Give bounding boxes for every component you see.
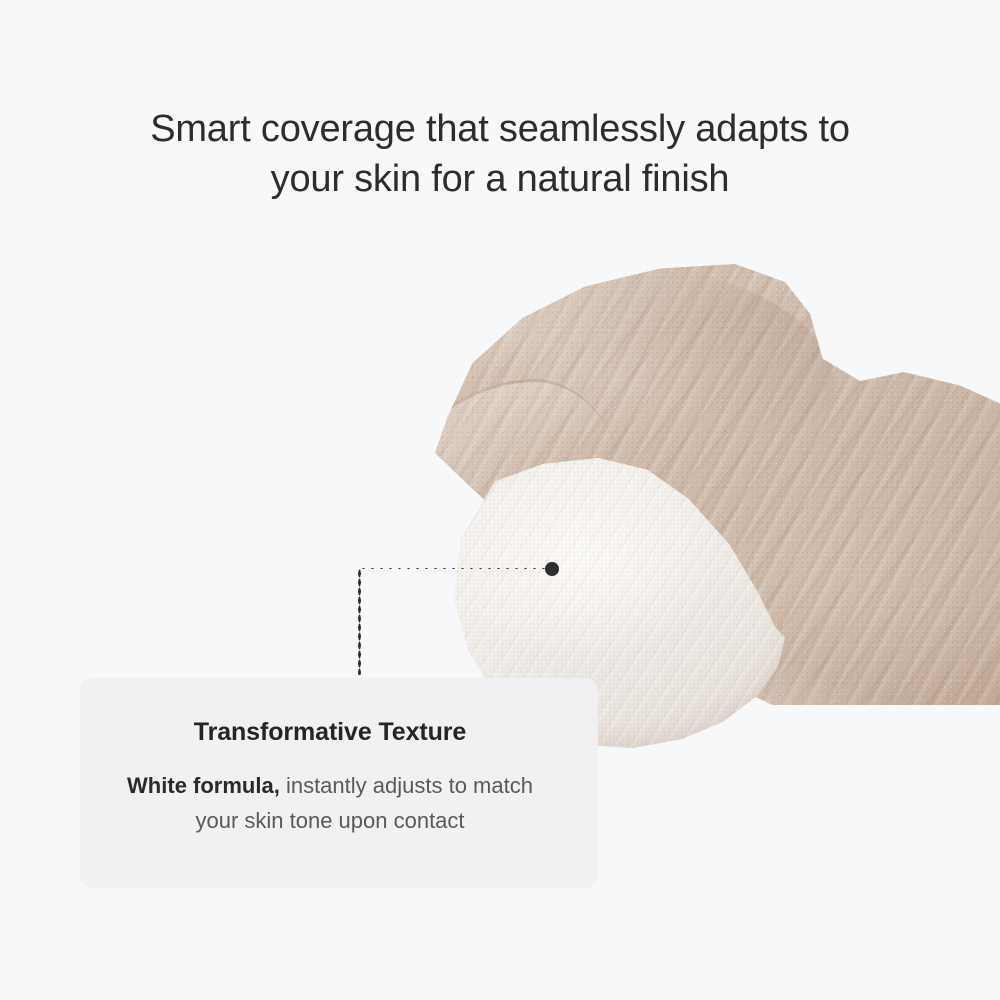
feature-info-card: Transformative Texture White formula, in… — [80, 678, 598, 888]
page-title: Smart coverage that seamlessly adapts to… — [0, 104, 1000, 204]
callout-leader-horizontal — [359, 567, 549, 570]
feature-card-body: White formula, instantly adjusts to matc… — [110, 768, 550, 838]
callout-leader-vertical — [358, 569, 361, 675]
feature-card-content: Transformative Texture White formula, in… — [80, 716, 598, 838]
feature-card-body-lead: White formula, — [127, 773, 280, 798]
product-feature-graphic: Smart coverage that seamlessly adapts to… — [0, 0, 1000, 1000]
callout-marker-dot[interactable] — [545, 562, 559, 576]
feature-card-title: Transformative Texture — [110, 716, 550, 748]
